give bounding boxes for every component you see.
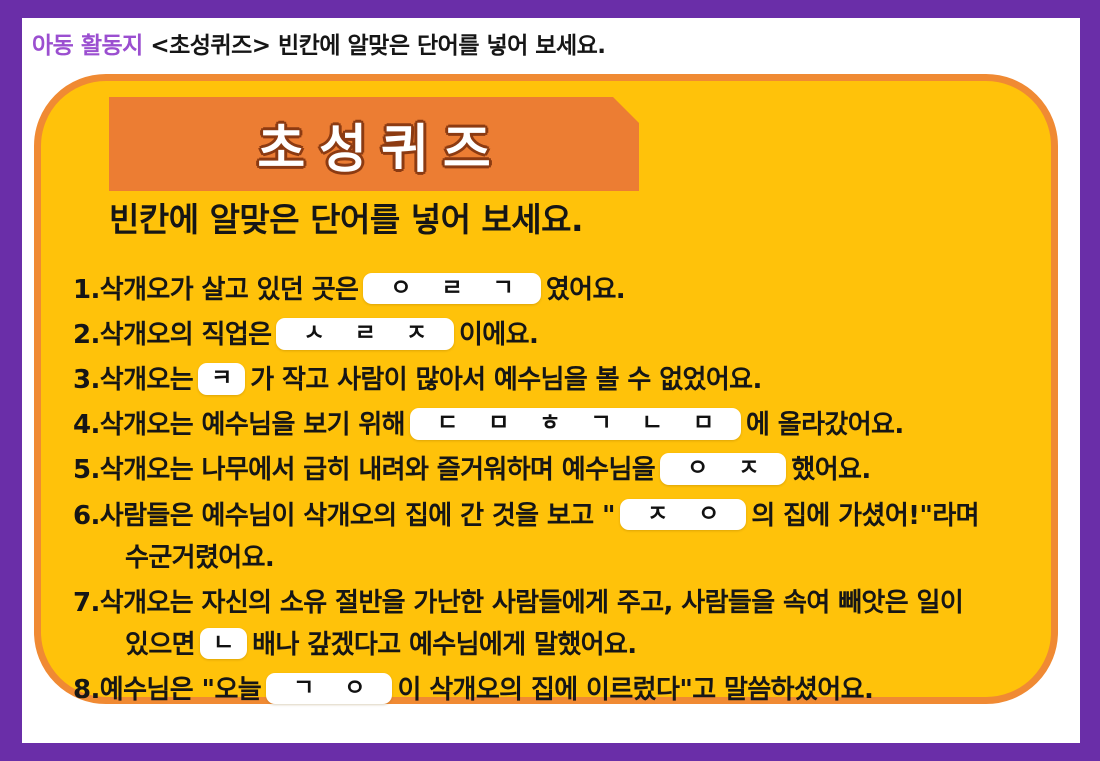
header-description: <초성퀴즈> 빈칸에 알맞은 단어를 넣어 보세요. [150, 33, 605, 59]
answer-blank-box[interactable]: ㅇ ㄹ ㄱ [363, 273, 541, 304]
quiz-item: 2.삭개오의 직업은ㅅ ㄹ ㅈ이에요. [73, 314, 1027, 356]
quiz-item-text-before: 예수님은 "오늘 [100, 675, 261, 705]
quiz-item-text-before: 사람들은 예수님이 삭개오의 집에 간 것을 보고 " [100, 501, 615, 531]
quiz-item-text-before: 삭개오의 직업은 [100, 320, 272, 350]
answer-blank-box[interactable]: ㄷ ㅁ ㅎ ㄱ ㄴ ㅁ [410, 408, 741, 439]
answer-blank-box[interactable]: ㅋ [198, 363, 245, 394]
quiz-item-text-after: 이 삭개오의 집에 이르렀다"고 말씀하셨어요. [397, 675, 873, 705]
header-line: 아동 활동지 <초성퀴즈> 빈칸에 알맞은 단어를 넣어 보세요. [32, 26, 606, 60]
header-tag-label: 아동 활동지 [32, 33, 143, 59]
answer-blank-box[interactable]: ㄴ [200, 628, 247, 659]
quiz-list: 1.삭개오가 살고 있던 곳은ㅇ ㄹ ㄱ였어요.2.삭개오의 직업은ㅅ ㄹ ㅈ이… [73, 269, 1027, 714]
quiz-item-number: 7. [73, 588, 100, 618]
answer-blank-box[interactable]: ㅈ ㅇ [620, 499, 746, 530]
quiz-item: 8.예수님은 "오늘ㄱ ㅇ이 삭개오의 집에 이르렀다"고 말씀하셨어요. [73, 669, 1027, 711]
quiz-item: 6.사람들은 예수님이 삭개오의 집에 간 것을 보고 "ㅈ ㅇ의 집에 가셨어… [73, 495, 1027, 579]
answer-blank-box[interactable]: ㅅ ㄹ ㅈ [276, 318, 454, 349]
quiz-item-number: 6. [73, 501, 100, 531]
quiz-item-number: 8. [73, 675, 100, 705]
quiz-item-text-after: 했어요. [791, 455, 870, 485]
quiz-item-text-before: 삭개오는 나무에서 급히 내려와 즐거워하며 예수님을 [100, 455, 655, 485]
quiz-item-text-after: 의 집에 가셨어!"라며 [751, 501, 979, 531]
quiz-item-text-after: 였어요. [546, 275, 625, 305]
banner-title: 초성퀴즈 [243, 107, 504, 182]
quiz-item: 4.삭개오는 예수님을 보기 위해ㄷ ㅁ ㅎ ㄱ ㄴ ㅁ에 올라갔어요. [73, 404, 1027, 446]
instruction-text: 빈칸에 알맞은 단어를 넣어 보세요. [109, 193, 583, 241]
quiz-item-number: 4. [73, 410, 100, 440]
answer-blank-box[interactable]: ㅇ ㅈ [660, 453, 786, 484]
worksheet-sheet: 아동 활동지 <초성퀴즈> 빈칸에 알맞은 단어를 넣어 보세요. 초성퀴즈 빈… [22, 18, 1080, 743]
quiz-item-line2-after: 배나 갚겠다고 예수님에게 말했어요. [252, 630, 636, 660]
quiz-card: 초성퀴즈 빈칸에 알맞은 단어를 넣어 보세요. 1.삭개오가 살고 있던 곳은… [34, 74, 1058, 704]
quiz-item-text-before: 삭개오는 예수님을 보기 위해 [100, 410, 405, 440]
quiz-item-text-after: 가 작고 사람이 많아서 예수님을 볼 수 없었어요. [250, 365, 762, 395]
quiz-item-text-before: 삭개오는 [100, 365, 193, 395]
quiz-item-text-after: 이에요. [459, 320, 538, 350]
quiz-item-number: 2. [73, 320, 100, 350]
answer-blank-box[interactable]: ㄱ ㅇ [266, 673, 392, 704]
quiz-item-text-before: 삭개오가 살고 있던 곳은 [100, 275, 359, 305]
quiz-item-line2-before: 있으면 [99, 630, 195, 660]
quiz-item: 5.삭개오는 나무에서 급히 내려와 즐거워하며 예수님을ㅇ ㅈ했어요. [73, 449, 1027, 491]
quiz-item-text-before: 삭개오는 자신의 소유 절반을 가난한 사람들에게 주고, 사람들을 속여 빼앗… [100, 588, 963, 618]
quiz-item-text-after: 에 올라갔어요. [746, 410, 904, 440]
worksheet-page: 아동 활동지 <초성퀴즈> 빈칸에 알맞은 단어를 넣어 보세요. 초성퀴즈 빈… [0, 0, 1100, 761]
quiz-item-number: 1. [73, 275, 100, 305]
quiz-item: 1.삭개오가 살고 있던 곳은ㅇ ㄹ ㄱ였어요. [73, 269, 1027, 311]
title-banner: 초성퀴즈 [109, 97, 639, 191]
quiz-item-number: 3. [73, 365, 100, 395]
quiz-item: 3.삭개오는ㅋ가 작고 사람이 많아서 예수님을 볼 수 없었어요. [73, 359, 1027, 401]
quiz-item-line2-before: 수군거렸어요. [99, 543, 274, 573]
quiz-item: 7.삭개오는 자신의 소유 절반을 가난한 사람들에게 주고, 사람들을 속여 … [73, 582, 1027, 666]
quiz-item-number: 5. [73, 455, 100, 485]
